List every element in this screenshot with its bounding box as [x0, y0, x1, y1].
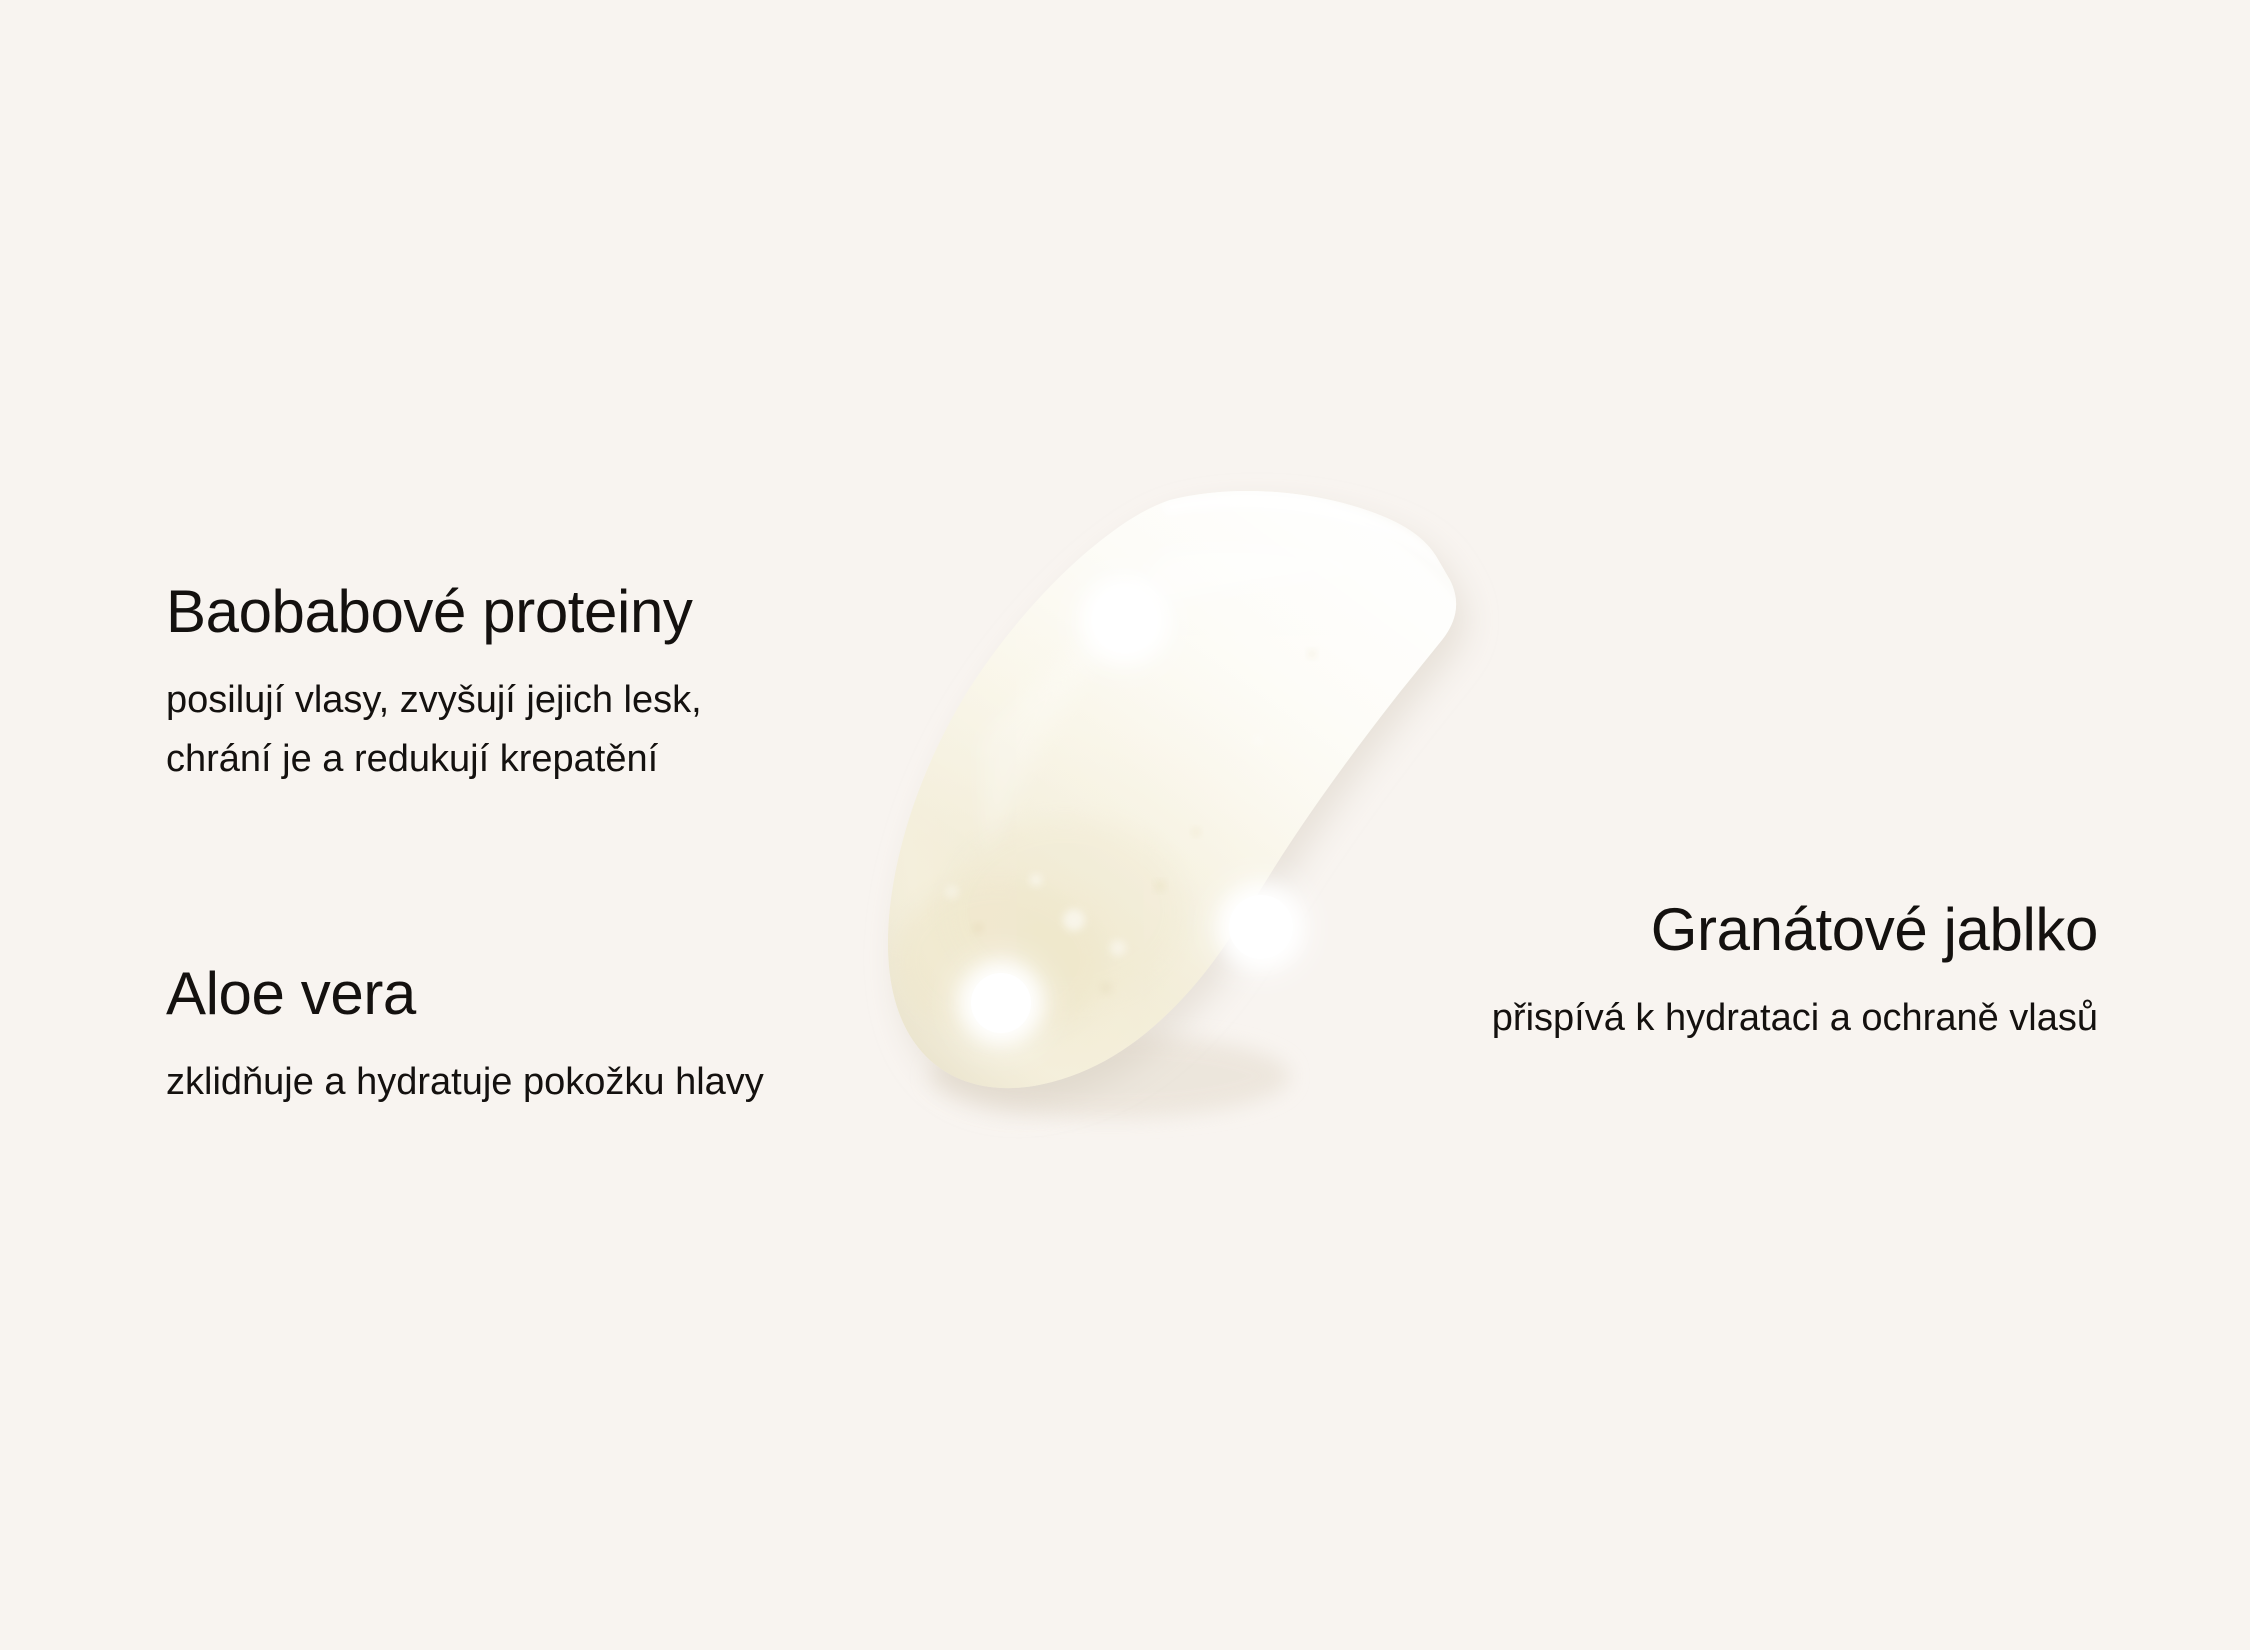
- callout-baobab-title: Baobabové proteiny: [166, 578, 702, 645]
- connector-dot-pomegranate: [1229, 895, 1293, 959]
- callout-aloe-vera: Aloe vera zklidňuje a hydratuje pokožku …: [166, 960, 764, 1112]
- callout-baobab-description: posilují vlasy, zvyšují jejich lesk, chr…: [166, 671, 702, 789]
- callout-aloe-vera-description-line-1: zklidňuje a hydratuje pokožku hlavy: [166, 1053, 764, 1112]
- callout-pomegranate-description-line-1: přispívá k hydrataci a ochraně vlasů: [1492, 989, 2098, 1048]
- callout-aloe-vera-title: Aloe vera: [166, 960, 764, 1027]
- callout-baobab: Baobabové proteiny posilují vlasy, zvyšu…: [166, 578, 702, 789]
- ingredient-highlight-canvas: Baobabové proteiny posilují vlasy, zvyšu…: [0, 0, 2250, 1650]
- callout-baobab-description-line-2: chrání je a redukují krepatění: [166, 730, 702, 789]
- callout-pomegranate-description: přispívá k hydrataci a ochraně vlasů: [1492, 989, 2098, 1048]
- product-gel-swatch: [860, 440, 1560, 1160]
- connector-dot-aloe-vera: [971, 973, 1031, 1033]
- connector-dot-baobab: [1092, 587, 1158, 653]
- gel-swatch-illustration: [860, 440, 1560, 1160]
- callout-baobab-description-line-1: posilují vlasy, zvyšují jejich lesk,: [166, 671, 702, 730]
- callout-pomegranate: Granátové jablko přispívá k hydrataci a …: [1492, 896, 2098, 1048]
- callout-aloe-vera-description: zklidňuje a hydratuje pokožku hlavy: [166, 1053, 764, 1112]
- callout-pomegranate-title: Granátové jablko: [1492, 896, 2098, 963]
